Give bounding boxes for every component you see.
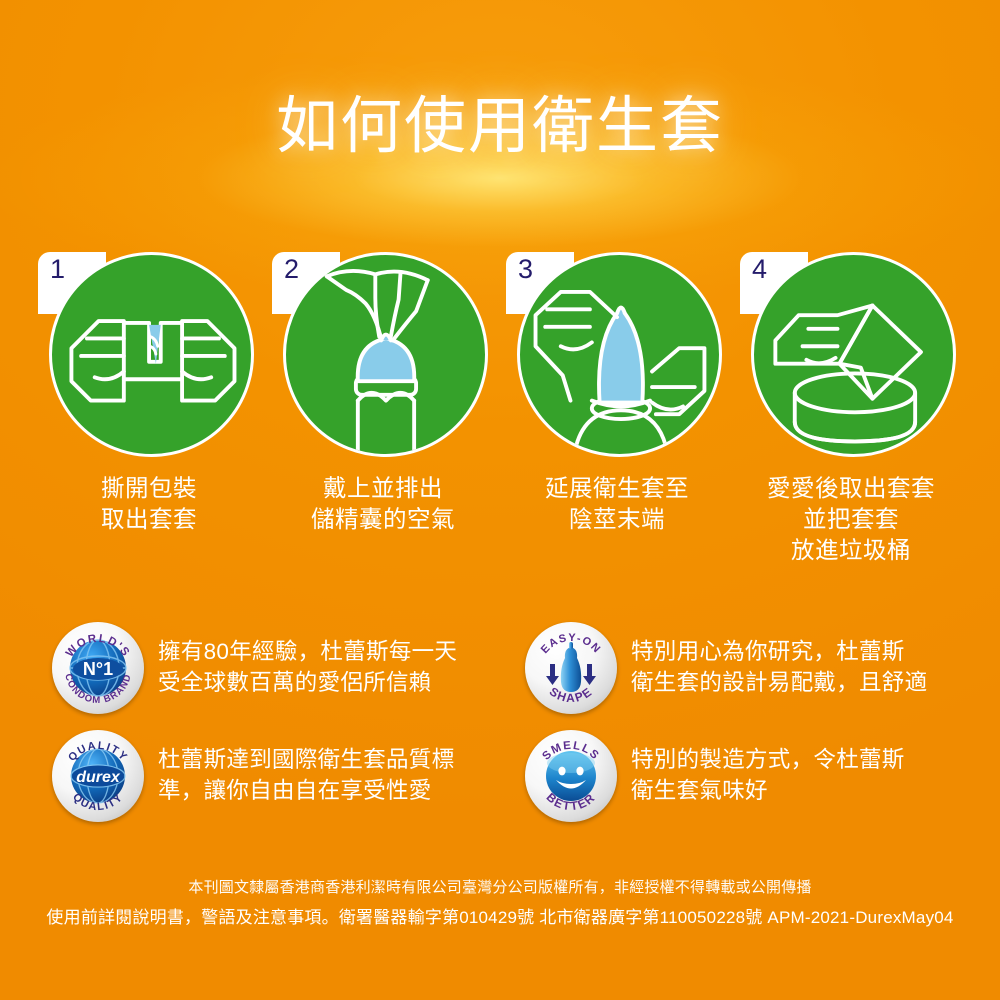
dispose-in-bin-icon xyxy=(751,252,956,457)
step-2-caption: 戴上並排出 儲精囊的空氣 xyxy=(311,473,455,535)
step-4-number: 4 xyxy=(752,256,767,283)
easy-on-shape-badge: EASY-ON SHAPE xyxy=(525,622,617,714)
step-1: 1 xyxy=(38,252,260,566)
pinch-condom-tip-icon xyxy=(283,252,488,457)
benefit-smells-better-text: 特別的製造方式，令杜蕾斯 衛生套氣味好 xyxy=(631,745,905,806)
step-4-card: 4 xyxy=(740,252,962,457)
benefit-worlds-no1-text: 擁有80年經驗，杜蕾斯每一天 受全球數百萬的愛侶所信賴 xyxy=(158,637,457,698)
benefit-durex-quality-text: 杜蕾斯達到國際衛生套品質標 準，讓你自由自在享受性愛 xyxy=(158,745,454,806)
benefit-worlds-no1: N°1 WORLD'S CONDOM BRAND 擁有80年經驗，杜蕾斯每一天 … xyxy=(52,622,485,714)
step-3-card: 3 xyxy=(506,252,728,457)
page-title: 如何使用衛生套 xyxy=(0,96,1000,158)
step-3-caption: 延展衛生套至 陰莖末端 xyxy=(545,473,689,535)
benefit-durex-quality: durex QUALITY QUALITY 杜蕾斯達到國際衛生套品質標 準，讓你… xyxy=(52,730,485,822)
step-2-number: 2 xyxy=(284,256,299,283)
step-3-number: 3 xyxy=(518,256,533,283)
title-block: 如何使用衛生套 xyxy=(0,96,1000,158)
durex-quality-badge: durex QUALITY QUALITY xyxy=(52,730,144,822)
copyright-notice: 本刊圖文隸屬香港商香港利潔時有限公司臺灣分公司版權所有，非經授權不得轉載或公開傳… xyxy=(0,876,1000,899)
benefit-easy-on-shape: EASY-ON SHAPE 特別用心為你研究，杜蕾斯 衛生套的設計易配戴，且舒適 xyxy=(525,622,958,714)
hands-tearing-package-icon xyxy=(49,252,254,457)
worlds-no1-condom-brand-badge: N°1 WORLD'S CONDOM BRAND xyxy=(52,622,144,714)
step-1-card: 1 xyxy=(38,252,260,457)
step-2: 2 xyxy=(272,252,494,566)
step-3: 3 xyxy=(506,252,728,566)
legal-block: 本刊圖文隸屬香港商香港利潔時有限公司臺灣分公司版權所有，非經授權不得轉載或公開傳… xyxy=(0,876,1000,931)
step-2-card: 2 xyxy=(272,252,494,457)
step-4-caption: 愛愛後取出套套 並把套套 放進垃圾桶 xyxy=(767,473,935,566)
step-1-number: 1 xyxy=(50,256,65,283)
step-4: 4 xyxy=(740,252,962,566)
benefits-grid: N°1 WORLD'S CONDOM BRAND 擁有80年經驗，杜蕾斯每一天 … xyxy=(52,622,958,822)
step-1-caption: 撕開包裝 取出套套 xyxy=(101,473,197,535)
benefit-smells-better: SMELLS BETTER 特別的製造方式，令杜蕾斯 衛生套氣味好 xyxy=(525,730,958,822)
benefit-easy-on-shape-text: 特別用心為你研究，杜蕾斯 衛生套的設計易配戴，且舒適 xyxy=(631,637,927,698)
badge-center-label: durex xyxy=(76,769,121,786)
steps-row: 1 xyxy=(38,252,962,566)
regulatory-notice: 使用前詳閱說明書，警語及注意事項。衛署醫器輸字第010429號 北市衛器廣字第1… xyxy=(0,904,1000,931)
poster-canvas: 如何使用衛生套 1 xyxy=(0,0,1000,1000)
smells-better-badge: SMELLS BETTER xyxy=(525,730,617,822)
roll-condom-down-icon xyxy=(517,252,722,457)
badge-center-label: N°1 xyxy=(83,659,113,679)
